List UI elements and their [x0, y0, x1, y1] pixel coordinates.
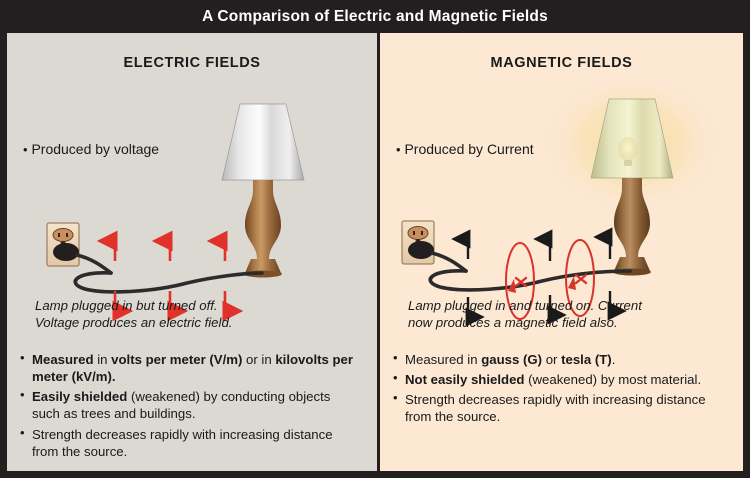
- fact-item: Strength decreases rapidly with increasi…: [392, 391, 728, 425]
- lead-bullet-magnetic-label: Produced by Current: [404, 141, 533, 157]
- lamp-base: [613, 178, 651, 276]
- facts-list-electric: Measured in volts per meter (V/m) or in …: [19, 351, 359, 463]
- facts-list-magnetic: Measured in gauss (G) or tesla (T).Not e…: [392, 351, 728, 429]
- caption-magnetic-line1: Lamp plugged in and turned on. Current: [408, 297, 642, 314]
- power-cord: [75, 255, 262, 292]
- bullet-dot-icon: •: [396, 142, 401, 157]
- fact-text: Measured in: [405, 352, 481, 367]
- fact-item: Strength decreases rapidly with increasi…: [19, 426, 359, 460]
- power-cord: [430, 253, 630, 290]
- fact-item: Measured in volts per meter (V/m) or in …: [19, 351, 359, 385]
- caption-magnetic: Lamp plugged in and turned on. Current n…: [408, 297, 642, 332]
- fact-item: Not easily shielded (weakened) by most m…: [392, 371, 728, 388]
- plug: [408, 241, 434, 259]
- caption-electric-line1: Lamp plugged in but turned off.: [35, 297, 232, 314]
- fact-emphasis: volts per meter (V/m): [111, 352, 242, 367]
- fact-emphasis: tesla (T): [561, 352, 612, 367]
- title-bar: A Comparison of Electric and Magnetic Fi…: [0, 0, 750, 33]
- fact-text: (weakened) by most material.: [524, 372, 701, 387]
- lamp-glow: [540, 73, 724, 213]
- wall-outlet: [47, 223, 79, 266]
- fact-text: or: [542, 352, 561, 367]
- panel-electric-fields: ELECTRIC FIELDS • Produced by voltage La…: [7, 33, 377, 471]
- lead-bullet-electric-label: Produced by voltage: [31, 141, 159, 157]
- panel-magnetic-fields: MAGNETIC FIELDS • Produced by Current La…: [380, 33, 743, 471]
- caption-electric-line2: Voltage produces an electric field.: [35, 314, 232, 331]
- lead-bullet-electric: • Produced by voltage: [23, 141, 159, 157]
- fact-item: Easily shielded (weakened) by conducting…: [19, 388, 359, 422]
- fact-emphasis: Easily shielded: [32, 389, 127, 404]
- lamp-base: [244, 180, 282, 278]
- fact-text: Strength decreases rapidly with increasi…: [405, 392, 706, 424]
- panel-title-electric: ELECTRIC FIELDS: [7, 55, 377, 71]
- fact-text: in: [94, 352, 112, 367]
- caption-magnetic-line2: now produces a magnetic field also.: [408, 314, 642, 331]
- page-title: A Comparison of Electric and Magnetic Fi…: [202, 8, 548, 26]
- fact-text: Strength decreases rapidly with increasi…: [32, 427, 333, 459]
- magnetic-loop-arrowheads: [508, 276, 576, 293]
- lead-bullet-magnetic: • Produced by Current: [396, 141, 534, 157]
- infographic-root: A Comparison of Electric and Magnetic Fi…: [0, 0, 750, 478]
- fact-emphasis: Measured: [32, 352, 94, 367]
- panel-title-magnetic: MAGNETIC FIELDS: [380, 55, 743, 71]
- panel-container: ELECTRIC FIELDS • Produced by voltage La…: [7, 33, 743, 471]
- fact-text: or in: [242, 352, 275, 367]
- light-bulb: [618, 137, 638, 161]
- wall-outlet: [402, 221, 434, 264]
- lamp-shade-lit: [591, 99, 673, 178]
- lamp-shade-unlit: [222, 104, 304, 180]
- caption-electric: Lamp plugged in but turned off. Voltage …: [35, 297, 232, 332]
- fact-text: .: [612, 352, 616, 367]
- current-direction-markers: [516, 275, 586, 286]
- fact-item: Measured in gauss (G) or tesla (T).: [392, 351, 728, 368]
- fact-emphasis: Not easily shielded: [405, 372, 524, 387]
- bullet-dot-icon: •: [23, 142, 28, 157]
- plug: [53, 243, 79, 261]
- fact-emphasis: gauss (G): [481, 352, 542, 367]
